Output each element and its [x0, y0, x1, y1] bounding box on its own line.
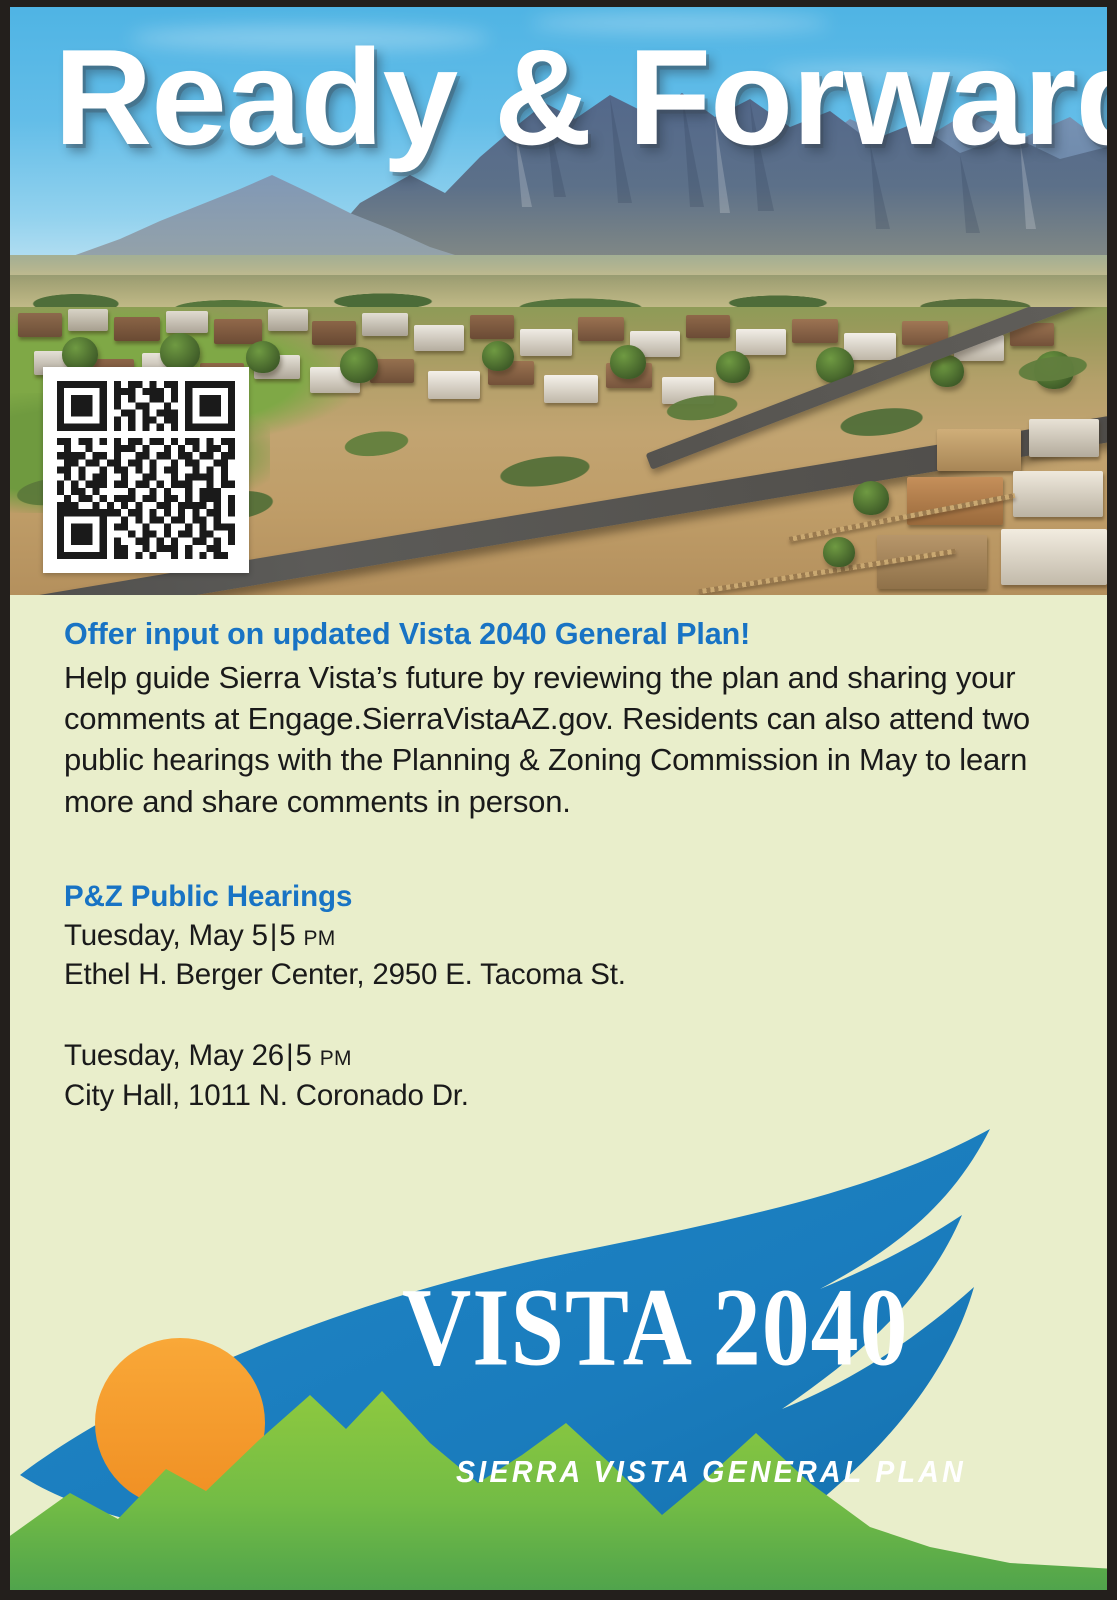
poster-frame: Ready & Forward [0, 0, 1117, 1600]
hearing-1-separator: | [268, 919, 279, 952]
body-copy: Offer input on updated Vista 2040 Genera… [64, 617, 1049, 1115]
hearings-heading: P&Z Public Hearings [64, 880, 1049, 914]
vista-2040-logo: VISTA 2040 SIERRA VISTA GENERAL PLAN [10, 1123, 1107, 1590]
hearing-1-time: 5 [279, 919, 295, 952]
hearing-1-meridiem: PM [303, 927, 335, 950]
body-paragraph: Help guide Sierra Vista’s future by revi… [64, 657, 1049, 822]
hearing-2-separator: | [284, 1039, 295, 1072]
hearing-2-location: City Hall, 1011 N. Coronado Dr. [64, 1076, 1049, 1115]
poster-canvas: Ready & Forward [10, 7, 1107, 1590]
logo-wordmark: VISTA 2040 [402, 1275, 909, 1381]
page-title: Ready & Forward [54, 29, 1064, 165]
hearing-2-time: 5 [295, 1039, 311, 1072]
content-panel: Offer input on updated Vista 2040 Genera… [10, 595, 1107, 1590]
hearing-1-datetime: Tuesday, May 5|5 PM [64, 916, 1049, 955]
qr-code-icon [57, 381, 235, 559]
hearing-1-location: Ethel H. Berger Center, 2950 E. Tacoma S… [64, 955, 1049, 994]
hearing-1-date: Tuesday, May 5 [64, 919, 268, 952]
qr-code[interactable] [43, 367, 249, 573]
kicker-heading: Offer input on updated Vista 2040 Genera… [64, 617, 1049, 652]
hearing-2-datetime: Tuesday, May 26|5 PM [64, 1036, 1049, 1075]
hearing-2-meridiem: PM [320, 1047, 352, 1070]
hearing-2-date: Tuesday, May 26 [64, 1039, 284, 1072]
house-cluster-right [757, 419, 1107, 595]
logo-tagline: SIERRA VISTA GENERAL PLAN [456, 1455, 966, 1491]
